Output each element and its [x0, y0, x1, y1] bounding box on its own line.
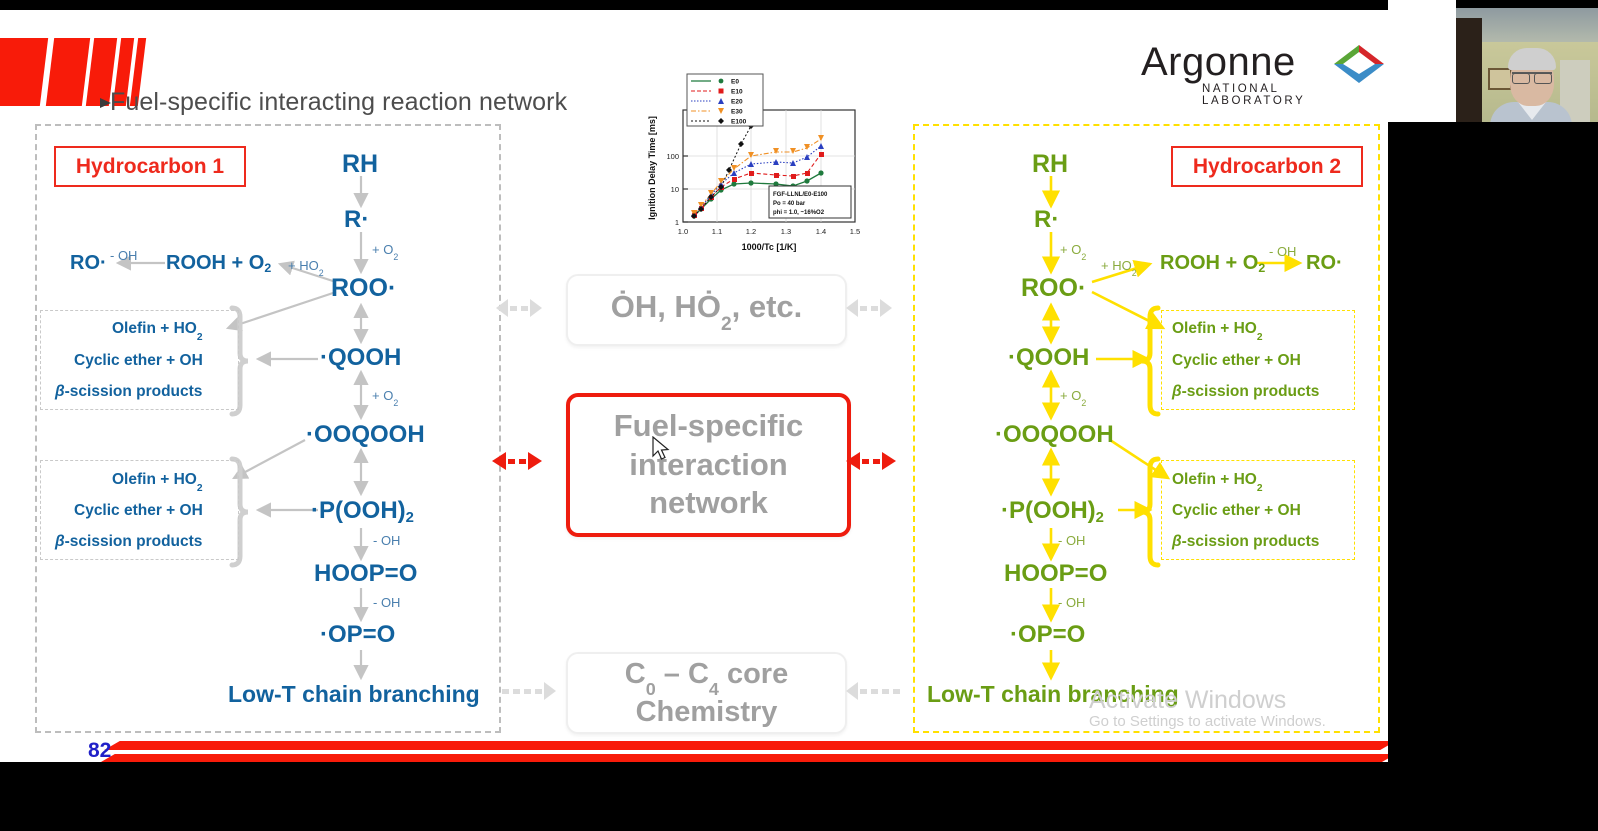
- label-ho2-left: + HO2: [288, 259, 324, 275]
- svg-text:1.5: 1.5: [850, 227, 860, 236]
- hydrocarbon2-panel: [913, 124, 1380, 733]
- species-pooh2-left: ·P(OOH)2: [311, 499, 414, 523]
- connector-left-radicals: [496, 299, 542, 317]
- label-o2-left-1: + O2: [372, 243, 398, 259]
- product-right-bot-1: Cyclic ether + OH: [1172, 503, 1301, 519]
- label-minus-oh-right-2: - OH: [1058, 596, 1085, 609]
- svg-text:1.1: 1.1: [712, 227, 722, 236]
- fuel-specific-interaction-box[interactable]: Fuel-specific interaction network: [566, 393, 851, 537]
- connector-right-radicals: [846, 299, 892, 317]
- svg-text:1000/Tc [1/K]: 1000/Tc [1/K]: [742, 242, 797, 252]
- windows-watermark-title: Activate Windows: [1089, 686, 1286, 715]
- webcam-left-white-strip: [1388, 0, 1456, 122]
- species-roo-right: ROO·: [1021, 276, 1086, 301]
- product-right-bot-0: Olefin + HO2: [1172, 472, 1263, 491]
- species-roo-left: ROO·: [331, 276, 396, 301]
- top-bezel: [0, 0, 1388, 10]
- label-minus-oh-right-1: - OH: [1058, 534, 1085, 547]
- ignition-delay-chart: 100 10 1 1.0 1.1 1.2 1.3 1.4 1.5 1000/: [641, 68, 869, 255]
- svg-text:100: 100: [666, 152, 679, 161]
- presenter-webcam[interactable]: [1388, 0, 1598, 122]
- species-hoopo-left: HOOP=O: [314, 562, 417, 586]
- connector-right-core: [846, 682, 902, 700]
- species-rooh-right: ROOH + O2: [1160, 253, 1265, 273]
- webcam-person-hair: [1508, 48, 1556, 70]
- species-ooqooh-left: ·OOQOOH: [306, 423, 425, 447]
- connector-left-core: [500, 682, 556, 700]
- species-r-left: R·: [344, 208, 369, 232]
- species-qooh-left: ·QOOH: [320, 346, 401, 370]
- svg-text:10: 10: [671, 185, 679, 194]
- label-o2-left-2: + O2: [372, 389, 398, 405]
- product-left-bot-0: Olefin + HO2: [112, 472, 203, 491]
- hydrocarbon2-badge: Hydrocarbon 2: [1171, 146, 1363, 187]
- webcam-shelf: [1456, 18, 1482, 122]
- mouse-cursor: [652, 436, 670, 462]
- svg-text:E20: E20: [731, 99, 743, 106]
- label-minus-oh-right-top: - OH: [1269, 245, 1296, 258]
- species-hoopo-right: HOOP=O: [1004, 562, 1107, 586]
- svg-text:Ignition Delay Time [ms]: Ignition Delay Time [ms]: [647, 116, 657, 220]
- product-right-top-1: Cyclic ether + OH: [1172, 353, 1301, 369]
- svg-text:1.2: 1.2: [746, 227, 756, 236]
- chart-svg: 100 10 1 1.0 1.1 1.2 1.3 1.4 1.5 1000/: [641, 68, 869, 255]
- species-ooqooh-right: ·OOQOOH: [995, 423, 1114, 447]
- webcam-person-glasses: [1512, 72, 1552, 83]
- svg-text:E0: E0: [731, 79, 739, 86]
- product-left-top-2: β-scission products: [55, 384, 202, 400]
- bottom-bezel: [0, 762, 1598, 831]
- page-title: Fuel-specific interacting reaction netwo…: [110, 88, 567, 117]
- product-right-top-2: β-scission products: [1172, 384, 1319, 400]
- product-left-bot-1: Cyclic ether + OH: [74, 503, 203, 519]
- radicals-box: ȮH, HȮ2, etc.: [566, 274, 847, 346]
- product-right-top-0: Olefin + HO2: [1172, 321, 1263, 340]
- hydrocarbon1-panel: [35, 124, 501, 733]
- label-minus-oh-left-2: - OH: [373, 596, 400, 609]
- species-ro-right: RO·: [1306, 253, 1343, 273]
- argonne-triangle-icon: [1331, 42, 1387, 88]
- connector-right-interaction: [846, 452, 896, 470]
- svg-text:1.0: 1.0: [678, 227, 688, 236]
- svg-text:E30: E30: [731, 109, 743, 116]
- svg-text:1: 1: [675, 218, 679, 227]
- webcam-video: [1456, 8, 1598, 122]
- label-minus-oh-left-top: - OH: [110, 249, 137, 262]
- connector-left-interaction: [492, 452, 542, 470]
- species-r-right: R·: [1034, 208, 1059, 232]
- svg-text:1.3: 1.3: [781, 227, 791, 236]
- argonne-logo: Argonne NATIONAL LABORATORY: [1141, 42, 1366, 98]
- species-pooh2-right: ·P(OOH)2: [1001, 499, 1104, 523]
- label-o2-right-2: + O2: [1060, 389, 1086, 405]
- species-rh-right: RH: [1032, 152, 1068, 177]
- label-o2-right-1: + O2: [1060, 243, 1086, 259]
- hydrocarbon1-badge: Hydrocarbon 1: [54, 146, 246, 187]
- slide-number: 82: [88, 739, 111, 762]
- species-branching-left: Low-T chain branching: [228, 683, 480, 706]
- logo-wordmark: Argonne: [1141, 40, 1296, 85]
- species-opo-right: ·OP=O: [1010, 623, 1085, 647]
- species-ro-left: RO·: [70, 253, 107, 273]
- product-left-bot-2: β-scission products: [55, 534, 202, 550]
- webcam-picture-frame: [1488, 68, 1512, 90]
- svg-text:1.4: 1.4: [816, 227, 826, 236]
- screen: Fuel-specific interacting reaction netwo…: [0, 0, 1598, 831]
- windows-watermark-subtitle: Go to Settings to activate Windows.: [1089, 713, 1326, 730]
- svg-text:phi = 1.0, ~16%O2: phi = 1.0, ~16%O2: [773, 210, 825, 216]
- right-bezel: [1388, 122, 1598, 762]
- species-opo-left: ·OP=O: [320, 623, 395, 647]
- core-chemistry-box: C0 – C4 core Chemistry: [566, 652, 847, 734]
- product-left-top-1: Cyclic ether + OH: [74, 353, 203, 369]
- label-ho2-right: + HO2: [1101, 259, 1137, 275]
- species-rooh-left: ROOH + O2: [166, 253, 271, 273]
- svg-text:E10: E10: [731, 89, 743, 96]
- presentation-slide: Fuel-specific interacting reaction netwo…: [0, 10, 1388, 762]
- svg-text:FGF-LLNL/E0-E100: FGF-LLNL/E0-E100: [773, 192, 828, 198]
- product-left-top-0: Olefin + HO2: [112, 321, 203, 340]
- species-qooh-right: ·QOOH: [1008, 346, 1089, 370]
- svg-text:E100: E100: [731, 119, 747, 126]
- product-right-bot-2: β-scission products: [1172, 534, 1319, 550]
- label-minus-oh-left-1: - OH: [373, 534, 400, 547]
- species-rh-left: RH: [342, 152, 378, 177]
- svg-text:Po = 40 bar: Po = 40 bar: [773, 201, 806, 207]
